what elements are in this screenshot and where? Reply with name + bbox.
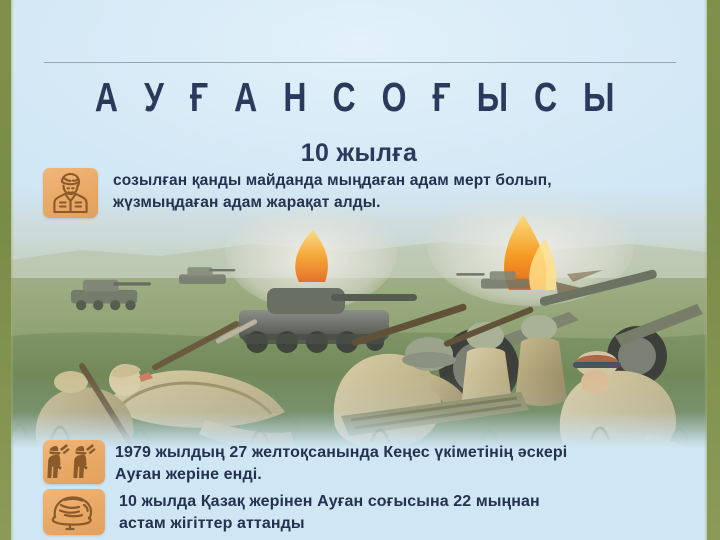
intro-line-2: жүзмыңдаған адам жарақат алды. xyxy=(113,192,681,214)
fact-1-line-1: 1979 жылдың 27 желтоқсанында Кеңес үкіме… xyxy=(115,442,690,464)
header-divider-rule xyxy=(44,62,676,63)
intro-line-1: созылған қанды майданда мыңдаған адам ме… xyxy=(113,170,681,192)
fact-soviet-entry: 1979 жылдың 27 желтоқсанында Кеңес үкіме… xyxy=(115,442,690,486)
fact-kazakh-soldiers: 10 жылда Қазақ жерінен Ауған соғысына 22… xyxy=(119,491,694,535)
two-soldiers-icon xyxy=(43,440,105,484)
page-title: А У Ғ А Н С О Ғ Ы С Ы xyxy=(88,76,631,119)
left-olive-border xyxy=(0,0,11,540)
slide-canvas: А У Ғ А Н С О Ғ Ы С Ы 10 жылға созылған … xyxy=(0,0,720,540)
fact-1-line-2: Ауған жеріне енді. xyxy=(115,464,690,486)
fact-2-line-1: 10 жылда Қазақ жерінен Ауған соғысына 22… xyxy=(119,491,694,513)
afghan-war-battle-painting xyxy=(11,186,707,448)
subtitle-duration: 10 жылға xyxy=(11,139,707,168)
intro-paragraph: созылған қанды майданда мыңдаған адам ме… xyxy=(113,170,681,214)
helmet-icon xyxy=(43,489,105,535)
fact-2-line-2: астам жігіттер аттанды xyxy=(119,513,694,535)
right-olive-border xyxy=(707,0,720,540)
soldier-bust-icon xyxy=(43,168,98,218)
